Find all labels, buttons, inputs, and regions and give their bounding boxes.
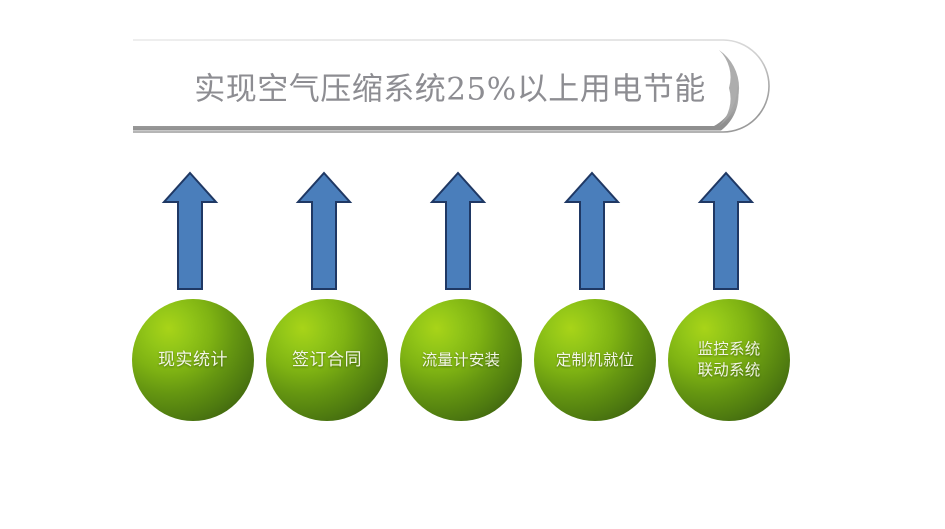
up-arrow-icon-5 bbox=[697, 170, 755, 292]
process-step-2[interactable]: 签订合同 bbox=[266, 299, 388, 421]
process-step-1[interactable]: 现实统计 bbox=[132, 299, 254, 421]
page-title: 实现空气压缩系统25%以上用电节能 bbox=[155, 64, 745, 109]
title-banner: 实现空气压缩系统25%以上用电节能 bbox=[131, 38, 771, 134]
process-step-3[interactable]: 流量计安装 bbox=[400, 299, 522, 421]
slide-canvas: 实现空气压缩系统25%以上用电节能 bbox=[0, 0, 945, 529]
process-step-label: 定制机就位 bbox=[552, 350, 639, 370]
process-step-5[interactable]: 监控系统 联动系统 bbox=[668, 299, 790, 421]
arrow-row bbox=[0, 170, 945, 295]
up-arrow-icon-2 bbox=[295, 170, 353, 292]
up-arrow-icon-3 bbox=[429, 170, 487, 292]
up-arrow-icon-4 bbox=[563, 170, 621, 292]
up-arrow-icon-1 bbox=[161, 170, 219, 292]
process-step-label: 现实统计 bbox=[154, 349, 232, 371]
process-step-label: 签订合同 bbox=[288, 349, 366, 371]
process-step-4[interactable]: 定制机就位 bbox=[534, 299, 656, 421]
process-circle-row: 现实统计 签订合同 流量计安装 定制机就位 监控系统 联动系统 bbox=[0, 299, 945, 423]
process-step-label: 流量计安装 bbox=[418, 350, 505, 370]
process-step-label: 监控系统 联动系统 bbox=[694, 339, 765, 382]
